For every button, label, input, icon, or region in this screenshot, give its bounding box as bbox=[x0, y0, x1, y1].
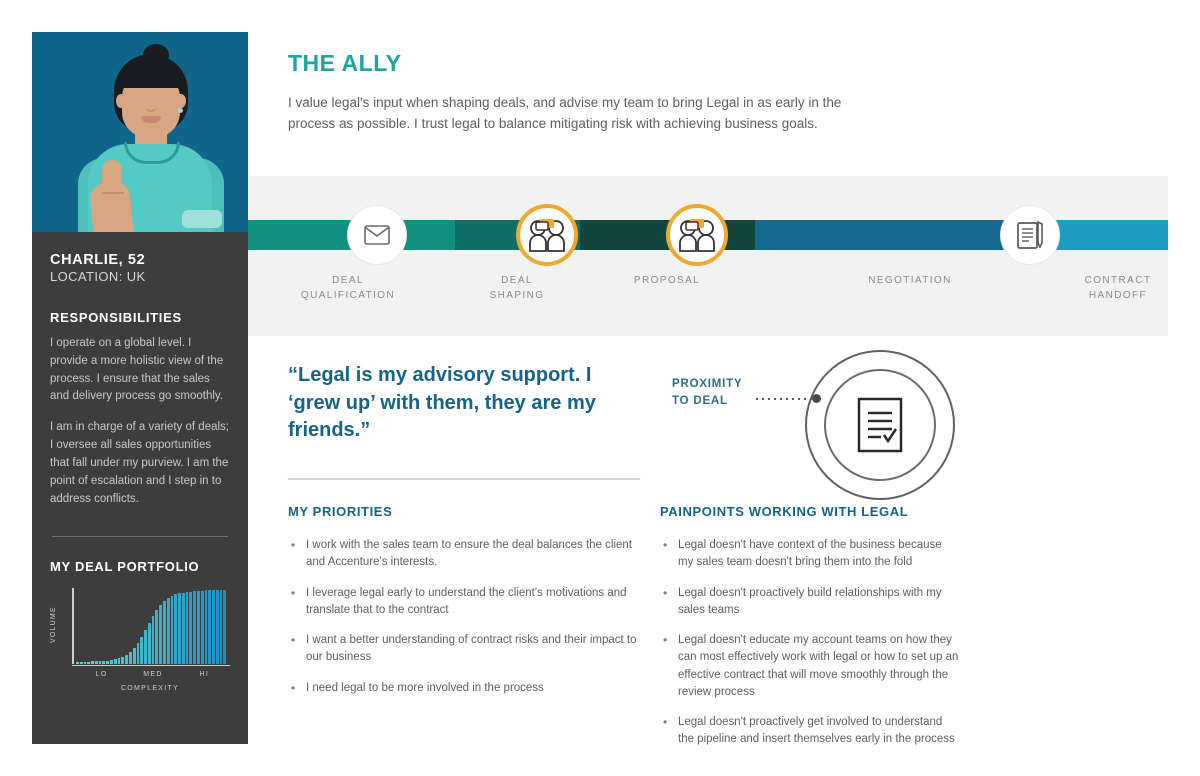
chart-bar bbox=[125, 655, 128, 665]
chart-bar bbox=[216, 590, 219, 664]
quote-divider bbox=[288, 478, 640, 480]
chart-bar bbox=[76, 662, 79, 664]
proximity-label-line1: PROXIMITY bbox=[672, 378, 742, 390]
timeline-segment-handoff bbox=[1048, 220, 1168, 250]
deal-portfolio-chart: MY DEAL PORTFOLIO VOLUME LO MED HI COMPL… bbox=[50, 559, 230, 692]
chart-bar bbox=[167, 598, 170, 665]
avatar-earring bbox=[178, 108, 183, 113]
chart-bar bbox=[152, 616, 155, 664]
chart-bar bbox=[171, 596, 174, 665]
chart-bar bbox=[140, 637, 143, 664]
avatar-fringe bbox=[120, 66, 182, 88]
chart-bar bbox=[114, 659, 117, 664]
timeline-stage-label: PROPOSAL bbox=[587, 274, 747, 289]
chart-bar bbox=[205, 590, 208, 664]
chart-bar bbox=[80, 662, 83, 664]
persona-name: CHARLIE, 52 bbox=[50, 252, 230, 268]
process-timeline: DEALQUALIFICATIONDEALSHAPINGPROPOSALNEGO… bbox=[248, 176, 1168, 336]
chart-bar bbox=[155, 610, 158, 664]
avatar-ear-left bbox=[116, 94, 126, 108]
document-pen-icon bbox=[1016, 220, 1044, 250]
main-header: THE ALLY I value legal's input when shap… bbox=[288, 50, 1200, 134]
chart-x-tick: HI bbox=[179, 671, 230, 678]
timeline-stage-label: NEGOTIATION bbox=[830, 274, 990, 289]
chart-bar bbox=[110, 660, 113, 664]
chart-bar bbox=[193, 591, 196, 664]
chart-bar bbox=[87, 662, 90, 664]
chart-bar bbox=[106, 661, 109, 665]
timeline-node-envelope-icon[interactable] bbox=[348, 206, 406, 264]
chart-bar bbox=[91, 661, 94, 664]
timeline-node-two-people-chat-icon[interactable] bbox=[516, 204, 578, 266]
chart-bar bbox=[118, 658, 121, 664]
chart-bar bbox=[121, 657, 124, 664]
proximity-to-deal-diagram: PROXIMITY TO DEAL bbox=[672, 360, 932, 490]
timeline-node-two-people-chat-icon[interactable] bbox=[666, 204, 728, 266]
document-check-icon bbox=[857, 397, 903, 453]
proximity-label-line2: TO DEAL bbox=[672, 395, 728, 407]
list-item: I want a better understanding of contrac… bbox=[288, 632, 644, 667]
chart-bar bbox=[201, 591, 204, 664]
list-item: Legal doesn't educate my account teams o… bbox=[660, 632, 960, 701]
chart-bar bbox=[163, 601, 166, 665]
chart-bar bbox=[159, 605, 162, 664]
responsibilities-heading: RESPONSIBILITIES bbox=[50, 310, 230, 325]
chart-title: MY DEAL PORTFOLIO bbox=[50, 559, 230, 574]
responsibility-paragraph: I operate on a global level. I provide a… bbox=[50, 335, 230, 406]
chart-bar bbox=[148, 623, 151, 664]
list-item: Legal doesn't proactively get involved t… bbox=[660, 714, 960, 749]
chart-bar bbox=[178, 593, 181, 664]
avatar-ear-right bbox=[176, 94, 186, 108]
painpoints-section: PAINPOINTS WORKING WITH LEGAL Legal does… bbox=[660, 504, 960, 762]
chart-bar bbox=[133, 648, 136, 664]
responsibility-paragraph: I am in charge of a variety of deals; I … bbox=[50, 419, 230, 508]
chart-y-axis-line bbox=[72, 588, 74, 664]
persona-intro: I value legal's input when shaping deals… bbox=[288, 93, 858, 134]
avatar-sleeve-cuff bbox=[182, 210, 222, 228]
priorities-heading: MY PRIORITIES bbox=[288, 504, 644, 519]
chart-bar bbox=[220, 590, 223, 664]
avatar-hand-line bbox=[102, 192, 124, 194]
thumbs-up-icon bbox=[102, 160, 122, 202]
chart-bar bbox=[144, 630, 147, 664]
proximity-inner-ring bbox=[824, 369, 936, 481]
chart-bar bbox=[212, 590, 215, 664]
persona-infographic: CHARLIE, 52 LOCATION: UK RESPONSIBILITIE… bbox=[0, 0, 1200, 776]
chart-bar bbox=[186, 592, 189, 665]
chart-bar bbox=[95, 661, 98, 664]
chart-bar bbox=[223, 590, 226, 664]
chart-y-axis-label: VOLUME bbox=[50, 594, 62, 656]
chart-bar bbox=[174, 594, 177, 664]
proximity-leader-line bbox=[756, 398, 814, 400]
persona-portrait bbox=[32, 32, 248, 232]
chart-bar bbox=[189, 592, 192, 665]
chart-bar bbox=[182, 593, 185, 665]
chart-x-tick: LO bbox=[76, 671, 127, 678]
two-people-chat-icon bbox=[527, 218, 567, 252]
sidebar-divider bbox=[52, 536, 228, 537]
envelope-icon bbox=[364, 225, 390, 245]
priorities-list: I work with the sales team to ensure the… bbox=[288, 537, 644, 697]
chart-bars bbox=[76, 590, 226, 664]
chart-bar bbox=[137, 643, 140, 664]
chart-x-axis-line bbox=[72, 665, 230, 667]
chart-x-axis-label: COMPLEXITY bbox=[50, 685, 230, 692]
chart-bar bbox=[99, 661, 102, 664]
timeline-node-document-pen-icon[interactable] bbox=[1001, 206, 1059, 264]
chart-bar bbox=[84, 662, 87, 664]
list-item: Legal doesn't proactively build relation… bbox=[660, 585, 960, 620]
list-item: Legal doesn't have context of the busine… bbox=[660, 537, 960, 572]
chart-x-tick: MED bbox=[127, 671, 178, 678]
timeline-stage-label: DEALQUALIFICATION bbox=[268, 274, 428, 303]
painpoints-heading: PAINPOINTS WORKING WITH LEGAL bbox=[660, 504, 960, 519]
chart-plot-area: VOLUME bbox=[50, 588, 230, 666]
list-item: I work with the sales team to ensure the… bbox=[288, 537, 644, 572]
chart-bar bbox=[102, 661, 105, 665]
list-item: I need legal to be more involved in the … bbox=[288, 680, 644, 697]
persona-location: LOCATION: UK bbox=[50, 269, 230, 284]
chart-x-tick-labels: LO MED HI bbox=[50, 671, 230, 678]
chart-bar bbox=[197, 591, 200, 664]
chart-bar bbox=[208, 590, 211, 664]
painpoints-list: Legal doesn't have context of the busine… bbox=[660, 537, 960, 749]
proximity-label: PROXIMITY TO DEAL bbox=[672, 376, 742, 409]
timeline-stage-label: CONTRACTHANDOFF bbox=[1038, 274, 1198, 303]
chart-bar bbox=[129, 652, 132, 665]
list-item: I leverage legal early to understand the… bbox=[288, 585, 644, 620]
timeline-stage-label: DEALSHAPING bbox=[437, 274, 597, 303]
my-priorities-section: MY PRIORITIES I work with the sales team… bbox=[288, 504, 644, 710]
two-people-chat-icon bbox=[677, 218, 717, 252]
page-title: THE ALLY bbox=[288, 50, 1200, 77]
persona-sidebar: CHARLIE, 52 LOCATION: UK RESPONSIBILITIE… bbox=[32, 32, 248, 744]
persona-quote: “Legal is my advisory support. I ‘grew u… bbox=[288, 362, 648, 445]
